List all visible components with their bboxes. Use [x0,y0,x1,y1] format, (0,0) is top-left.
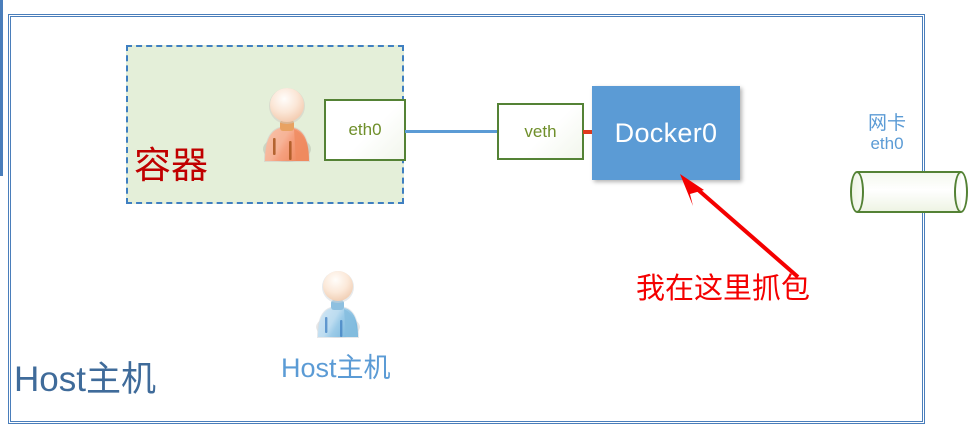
container-label: 容器 [134,147,208,184]
network-card-label: 网卡 eth0 [857,113,917,153]
veth-interface-label: veth [524,122,556,142]
network-card-cylinder-body [857,171,961,213]
docker0-label: Docker0 [615,118,718,149]
network-card-subtitle: eth0 [857,134,917,153]
eth0-interface-label: eth0 [348,120,381,140]
network-card-cylinder [857,171,975,213]
host-user-icon [310,268,366,342]
network-card-cylinder-right-cap [954,171,968,213]
eth0-interface-box[interactable]: eth0 [324,99,406,161]
host-user-label: Host主机 [281,355,391,382]
network-card-title: 网卡 [857,113,917,134]
container-user-icon [256,84,318,166]
host-title-label: Host主机 [14,362,156,397]
link-docker0-to-network-card [0,0,3,176]
link-eth0-to-veth [405,130,498,133]
network-card-cylinder-left-cap [850,171,864,213]
diagram-canvas: 容器 eth0 veth Docker0 网卡 eth0 我在这里抓包 [0,0,979,433]
capture-annotation-text: 我在这里抓包 [636,275,810,304]
docker0-bridge-box[interactable]: Docker0 [592,86,740,180]
veth-interface-box[interactable]: veth [497,103,584,160]
